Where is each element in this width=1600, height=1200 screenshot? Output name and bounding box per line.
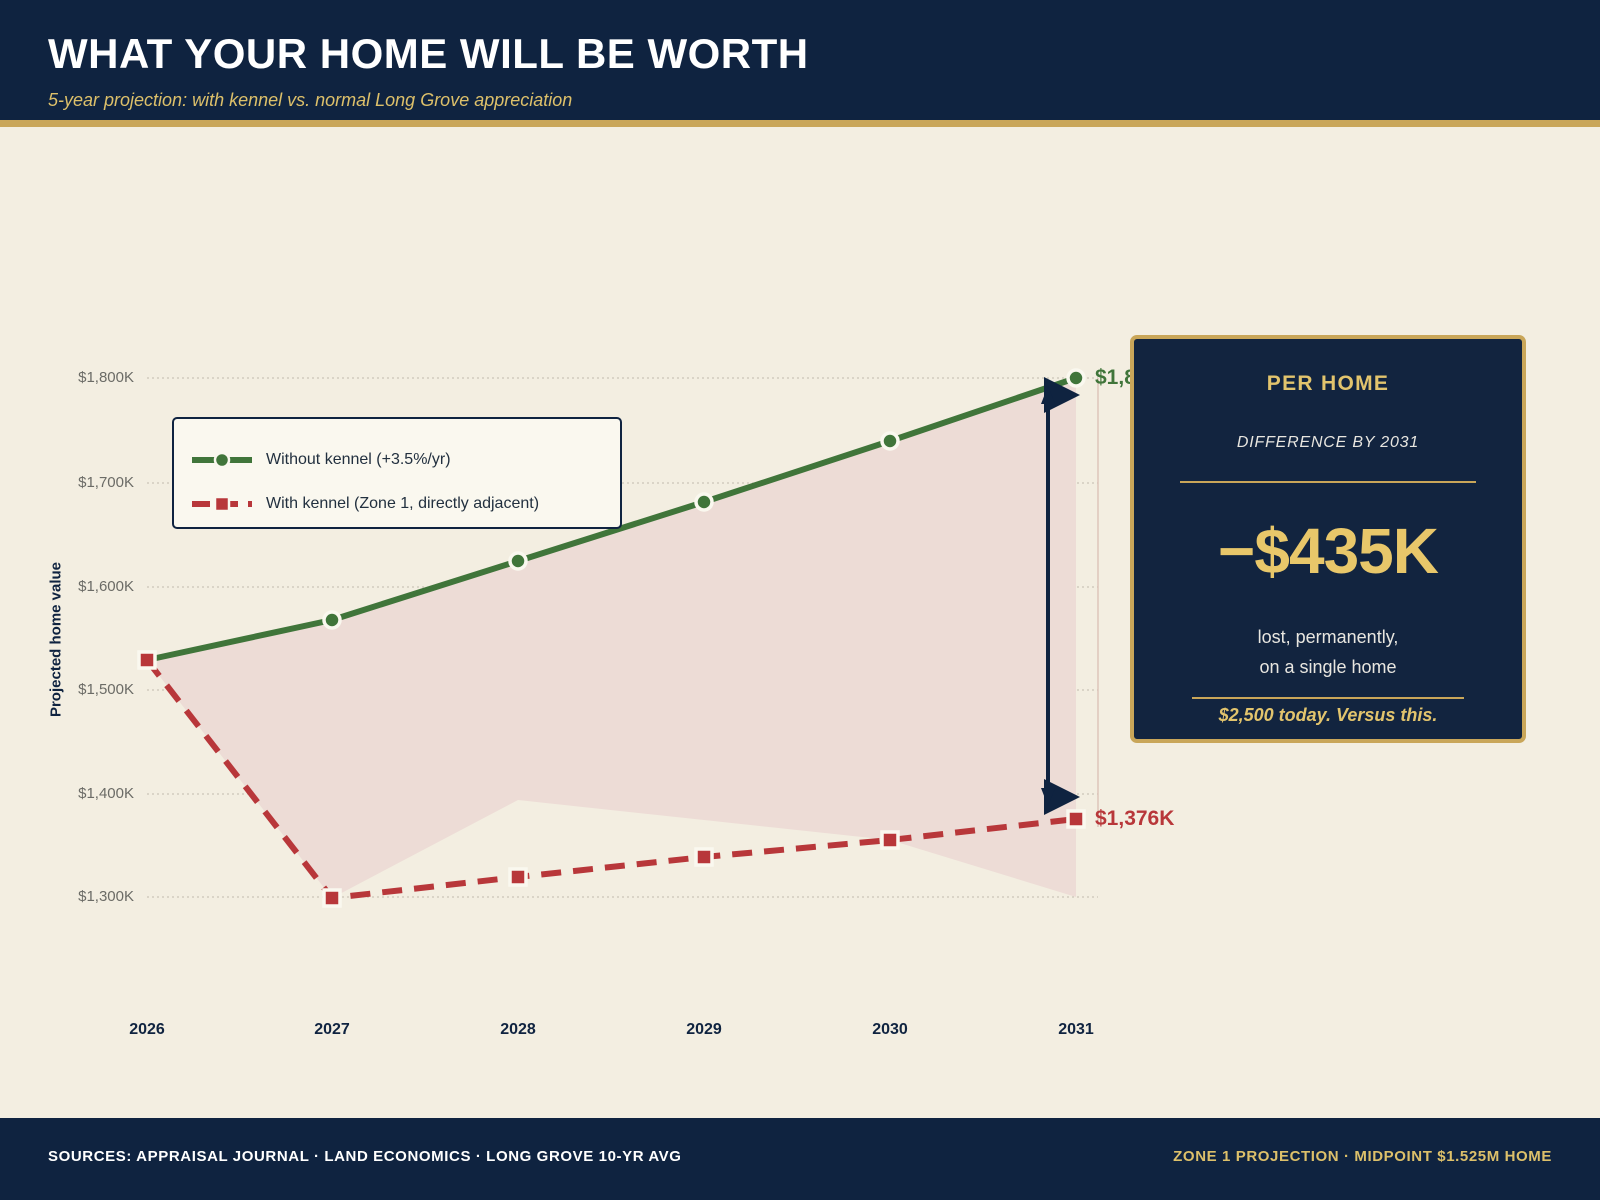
xtick-label-2029: 2029 — [644, 1021, 764, 1039]
footer-sources: SOURCES: APPRAISAL JOURNAL · LAND ECONOM… — [48, 1148, 682, 1165]
ytick-label: $1,700K — [24, 474, 134, 491]
footer-bar: SOURCES: APPRAISAL JOURNAL · LAND ECONOM… — [0, 1118, 1600, 1200]
callout-detail-line-1: lost, permanently, — [1134, 627, 1522, 648]
legend-item-without-kennel[interactable]: Without kennel (+3.5%/yr) — [192, 445, 451, 475]
legend-item-with-kennel[interactable]: With kennel (Zone 1, directly adjacent) — [192, 489, 539, 519]
legend-label: With kennel (Zone 1, directly adjacent) — [266, 495, 539, 513]
xtick-label-2031: 2031 — [1016, 1021, 1136, 1039]
header-accent-rule — [0, 120, 1600, 127]
xtick-label-2027: 2027 — [272, 1021, 392, 1039]
per-home-callout-box: PER HOME DIFFERENCE BY 2031 −$435K lost,… — [1130, 335, 1526, 743]
callout-title: PER HOME — [1134, 372, 1522, 396]
callout-divider-top — [1180, 481, 1476, 483]
ytick-label: $1,600K — [24, 578, 134, 595]
ytick-label: $1,800K — [24, 369, 134, 386]
legend-swatch-green-line-icon — [192, 451, 252, 469]
callout-divider-bottom — [1192, 697, 1464, 699]
end-label-with-kennel: $1,376K — [1095, 807, 1174, 831]
callout-value: −$435K — [1134, 514, 1522, 588]
callout-footnote: $2,500 today. Versus this. — [1134, 705, 1522, 726]
page-subtitle: 5-year projection: with kennel vs. norma… — [48, 90, 572, 111]
ytick-label: $1,300K — [24, 888, 134, 905]
xtick-label-2028: 2028 — [458, 1021, 578, 1039]
ytick-label: $1,500K — [24, 681, 134, 698]
xtick-label-2026: 2026 — [87, 1021, 207, 1039]
chart-legend: Without kennel (+3.5%/yr) With kennel (Z… — [172, 417, 622, 529]
page-title: WHAT YOUR HOME WILL BE WORTH — [48, 30, 809, 78]
legend-label: Without kennel (+3.5%/yr) — [266, 451, 451, 469]
legend-swatch-red-dashed-icon — [192, 495, 252, 513]
ytick-label: $1,400K — [24, 785, 134, 802]
xtick-label-2030: 2030 — [830, 1021, 950, 1039]
callout-detail-line-2: on a single home — [1134, 657, 1522, 678]
y-axis-label: Projected home value — [48, 540, 65, 740]
header-bar: WHAT YOUR HOME WILL BE WORTH 5-year proj… — [0, 0, 1600, 120]
callout-subtitle: DIFFERENCE BY 2031 — [1134, 434, 1522, 452]
footer-projection-note: ZONE 1 PROJECTION · MIDPOINT $1.525M HOM… — [1173, 1148, 1552, 1165]
